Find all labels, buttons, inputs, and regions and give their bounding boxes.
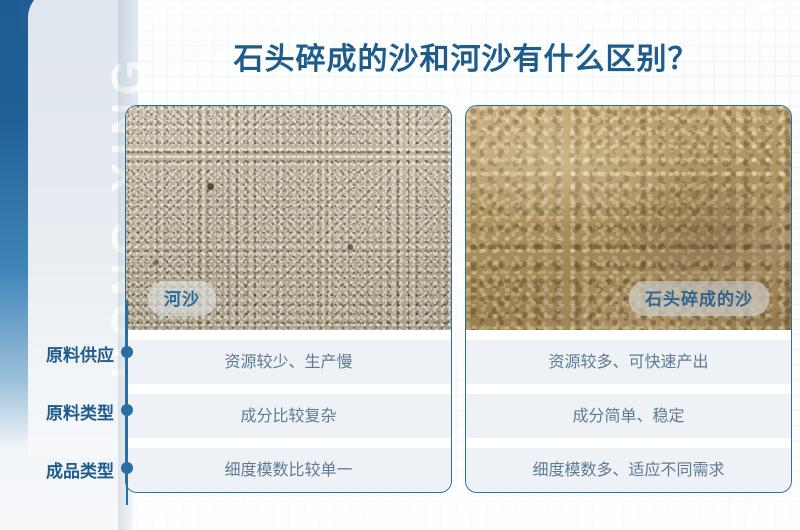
table-row: 细度模数比较单一	[126, 448, 451, 492]
row-label-product-type: 成品类型	[0, 457, 114, 482]
timeline-dot	[121, 346, 133, 358]
rail-blue-stripe	[0, 0, 28, 448]
row-label-raw-material-type: 原料类型	[0, 399, 114, 424]
card-caption: 河沙	[148, 281, 216, 316]
table-row: 细度模数多、适应不同需求	[466, 448, 791, 492]
card-rows: 资源较少、生产慢 成分比较复杂 细度模数比较单一	[126, 340, 451, 492]
timeline-dot	[121, 462, 133, 474]
timeline-dot	[121, 404, 133, 416]
timeline-axis	[126, 300, 128, 505]
table-row: 成分比较复杂	[126, 394, 451, 438]
comparison-card-crushed-sand: 石头碎成的沙 资源较多、可快速产出 成分简单、稳定 细度模数多、适应不同需求	[465, 105, 792, 493]
table-row: 资源较多、可快速产出	[466, 340, 791, 384]
left-rail: HONG XING	[0, 0, 132, 530]
card-caption: 石头碎成的沙	[629, 281, 769, 316]
comparison-card-river-sand: 河沙 资源较少、生产慢 成分比较复杂 细度模数比较单一	[125, 105, 452, 493]
row-label-raw-material-supply: 原料供应	[0, 341, 114, 366]
crushed-stone-sand-photo: 石头碎成的沙	[466, 106, 791, 330]
river-sand-photo: 河沙	[126, 106, 451, 330]
table-row: 资源较少、生产慢	[126, 340, 451, 384]
table-row: 成分简单、稳定	[466, 394, 791, 438]
infographic-canvas: HONG XING 石头碎成的沙和河沙有什么区别？ 河沙 资源较少、生产慢 成分…	[0, 0, 800, 530]
card-rows: 资源较多、可快速产出 成分简单、稳定 细度模数多、适应不同需求	[466, 340, 791, 492]
page-title: 石头碎成的沙和河沙有什么区别？	[132, 34, 800, 78]
